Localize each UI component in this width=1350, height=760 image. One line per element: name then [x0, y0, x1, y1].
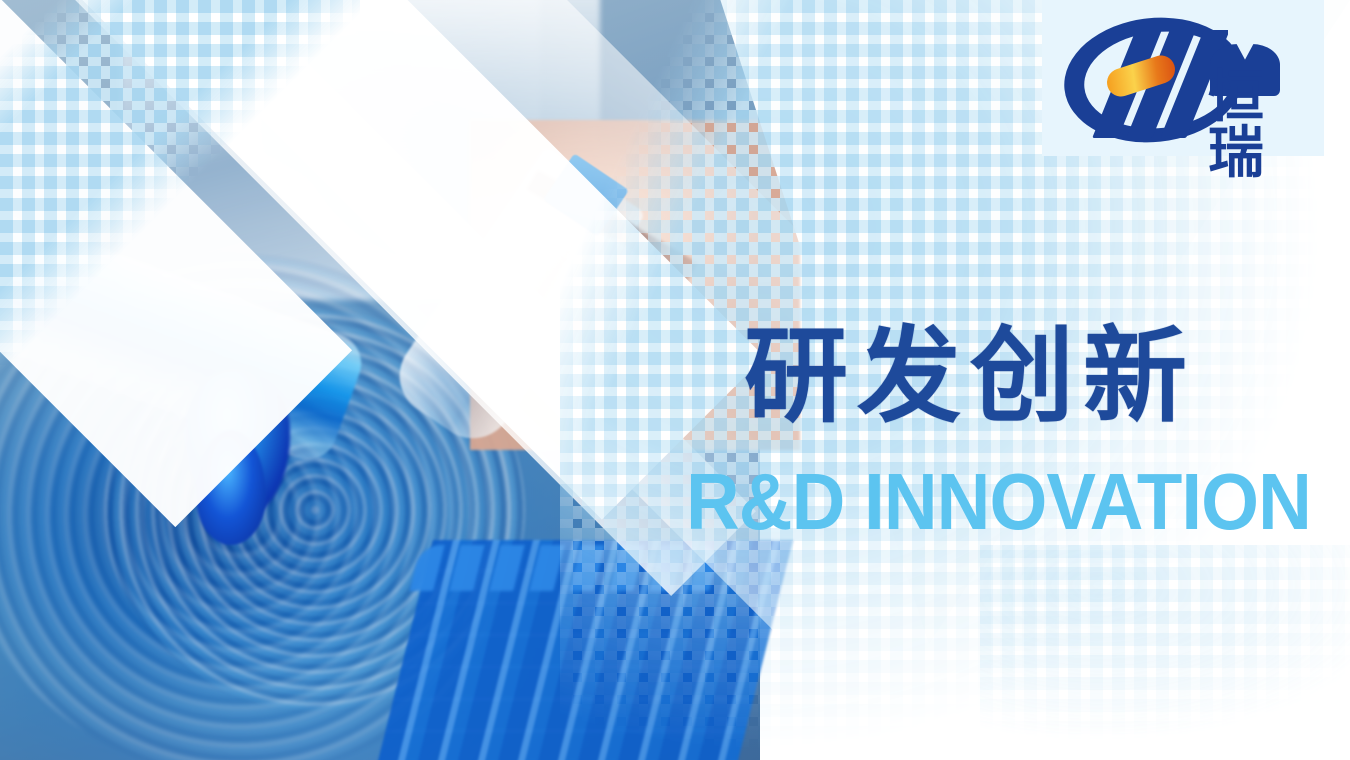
headline-chinese: 研发创新: [744, 322, 1196, 430]
grid-pattern-bottom-right: [980, 545, 1350, 760]
banner-canvas: 研发创新 R&D INNOVATION 恒瑞: [0, 0, 1350, 760]
logo-brand-text: 恒瑞: [1208, 70, 1320, 182]
subheadline-english: R&D INNOVATION: [686, 462, 1311, 542]
grid-pattern-top-left: [0, 0, 360, 430]
hengrui-logo[interactable]: 恒瑞: [1058, 14, 1320, 144]
